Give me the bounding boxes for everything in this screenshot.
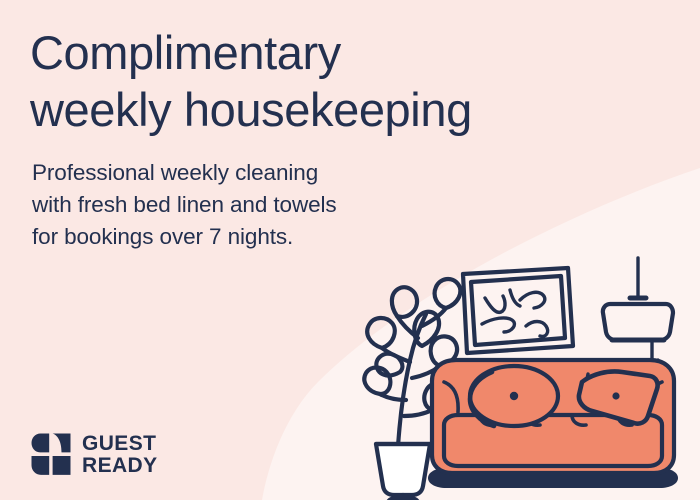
sofa-icon bbox=[428, 360, 678, 488]
framed-artwork-icon bbox=[463, 268, 573, 353]
page-title: Complimentary weekly housekeeping bbox=[30, 24, 590, 139]
guestready-logo-icon bbox=[31, 433, 71, 476]
living-room-illustration bbox=[360, 250, 700, 500]
description-text: Professional weekly cleaning with fresh … bbox=[32, 157, 590, 254]
pendant-lamp-icon bbox=[603, 258, 673, 362]
round-cushion-icon bbox=[470, 366, 558, 426]
brand-wordmark: GUEST READY bbox=[82, 433, 158, 476]
promo-poster: Complimentary weekly housekeeping Profes… bbox=[0, 0, 700, 500]
text-block: Complimentary weekly housekeeping Profes… bbox=[30, 24, 590, 254]
brand-logo: GUEST READY bbox=[31, 433, 158, 476]
